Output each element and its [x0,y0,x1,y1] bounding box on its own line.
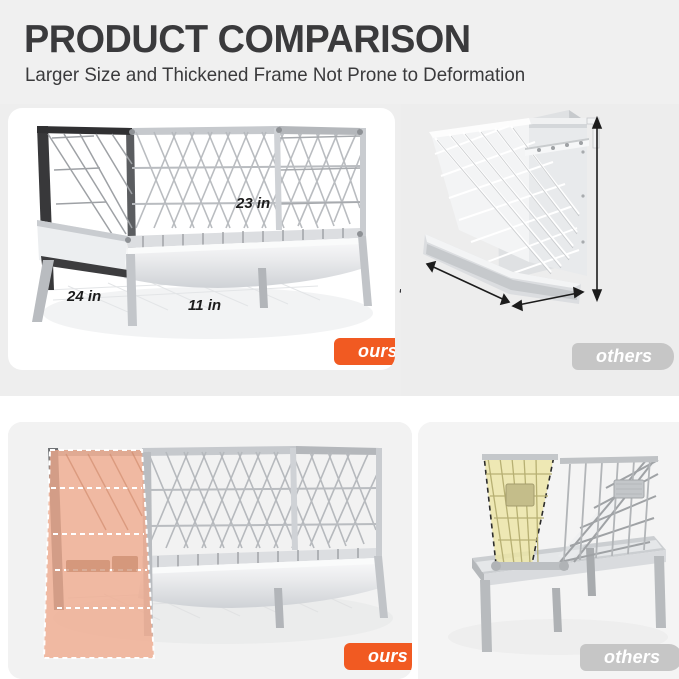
ours-badge-top: ours [334,338,395,365]
others-product-card-top: others [401,104,679,396]
ours-product-card-top: ours [8,108,395,370]
ours-product-card-bottom: ours [8,422,412,679]
dimension-label-width: 24 in [67,288,101,305]
comparison-section-size: ours VS [0,104,679,396]
others-badge-bottom: others [580,644,679,671]
page-subtitle: Larger Size and Thickened Frame Not Pron… [25,66,525,86]
ours-thickness-highlight [44,450,154,658]
large-hay-feeder-thick-panel-illustration [8,422,412,679]
product-comparison-page: PRODUCT COMPARISON Larger Size and Thick… [0,0,679,679]
page-header: PRODUCT COMPARISON Larger Size and Thick… [0,0,679,104]
large-hay-feeder-illustration [8,108,395,370]
others-badge-top: others [572,343,674,370]
dimension-label-height: 23 in [236,195,270,212]
dimension-label-depth: 11 in [188,297,221,314]
page-title: PRODUCT COMPARISON [24,20,471,59]
v-shaped-hay-feeder-illustration [418,422,679,679]
others-product-card-bottom: others [418,422,679,679]
ours-badge-bottom: ours [344,643,412,670]
comparison-section-frame: ours VS [0,400,679,679]
